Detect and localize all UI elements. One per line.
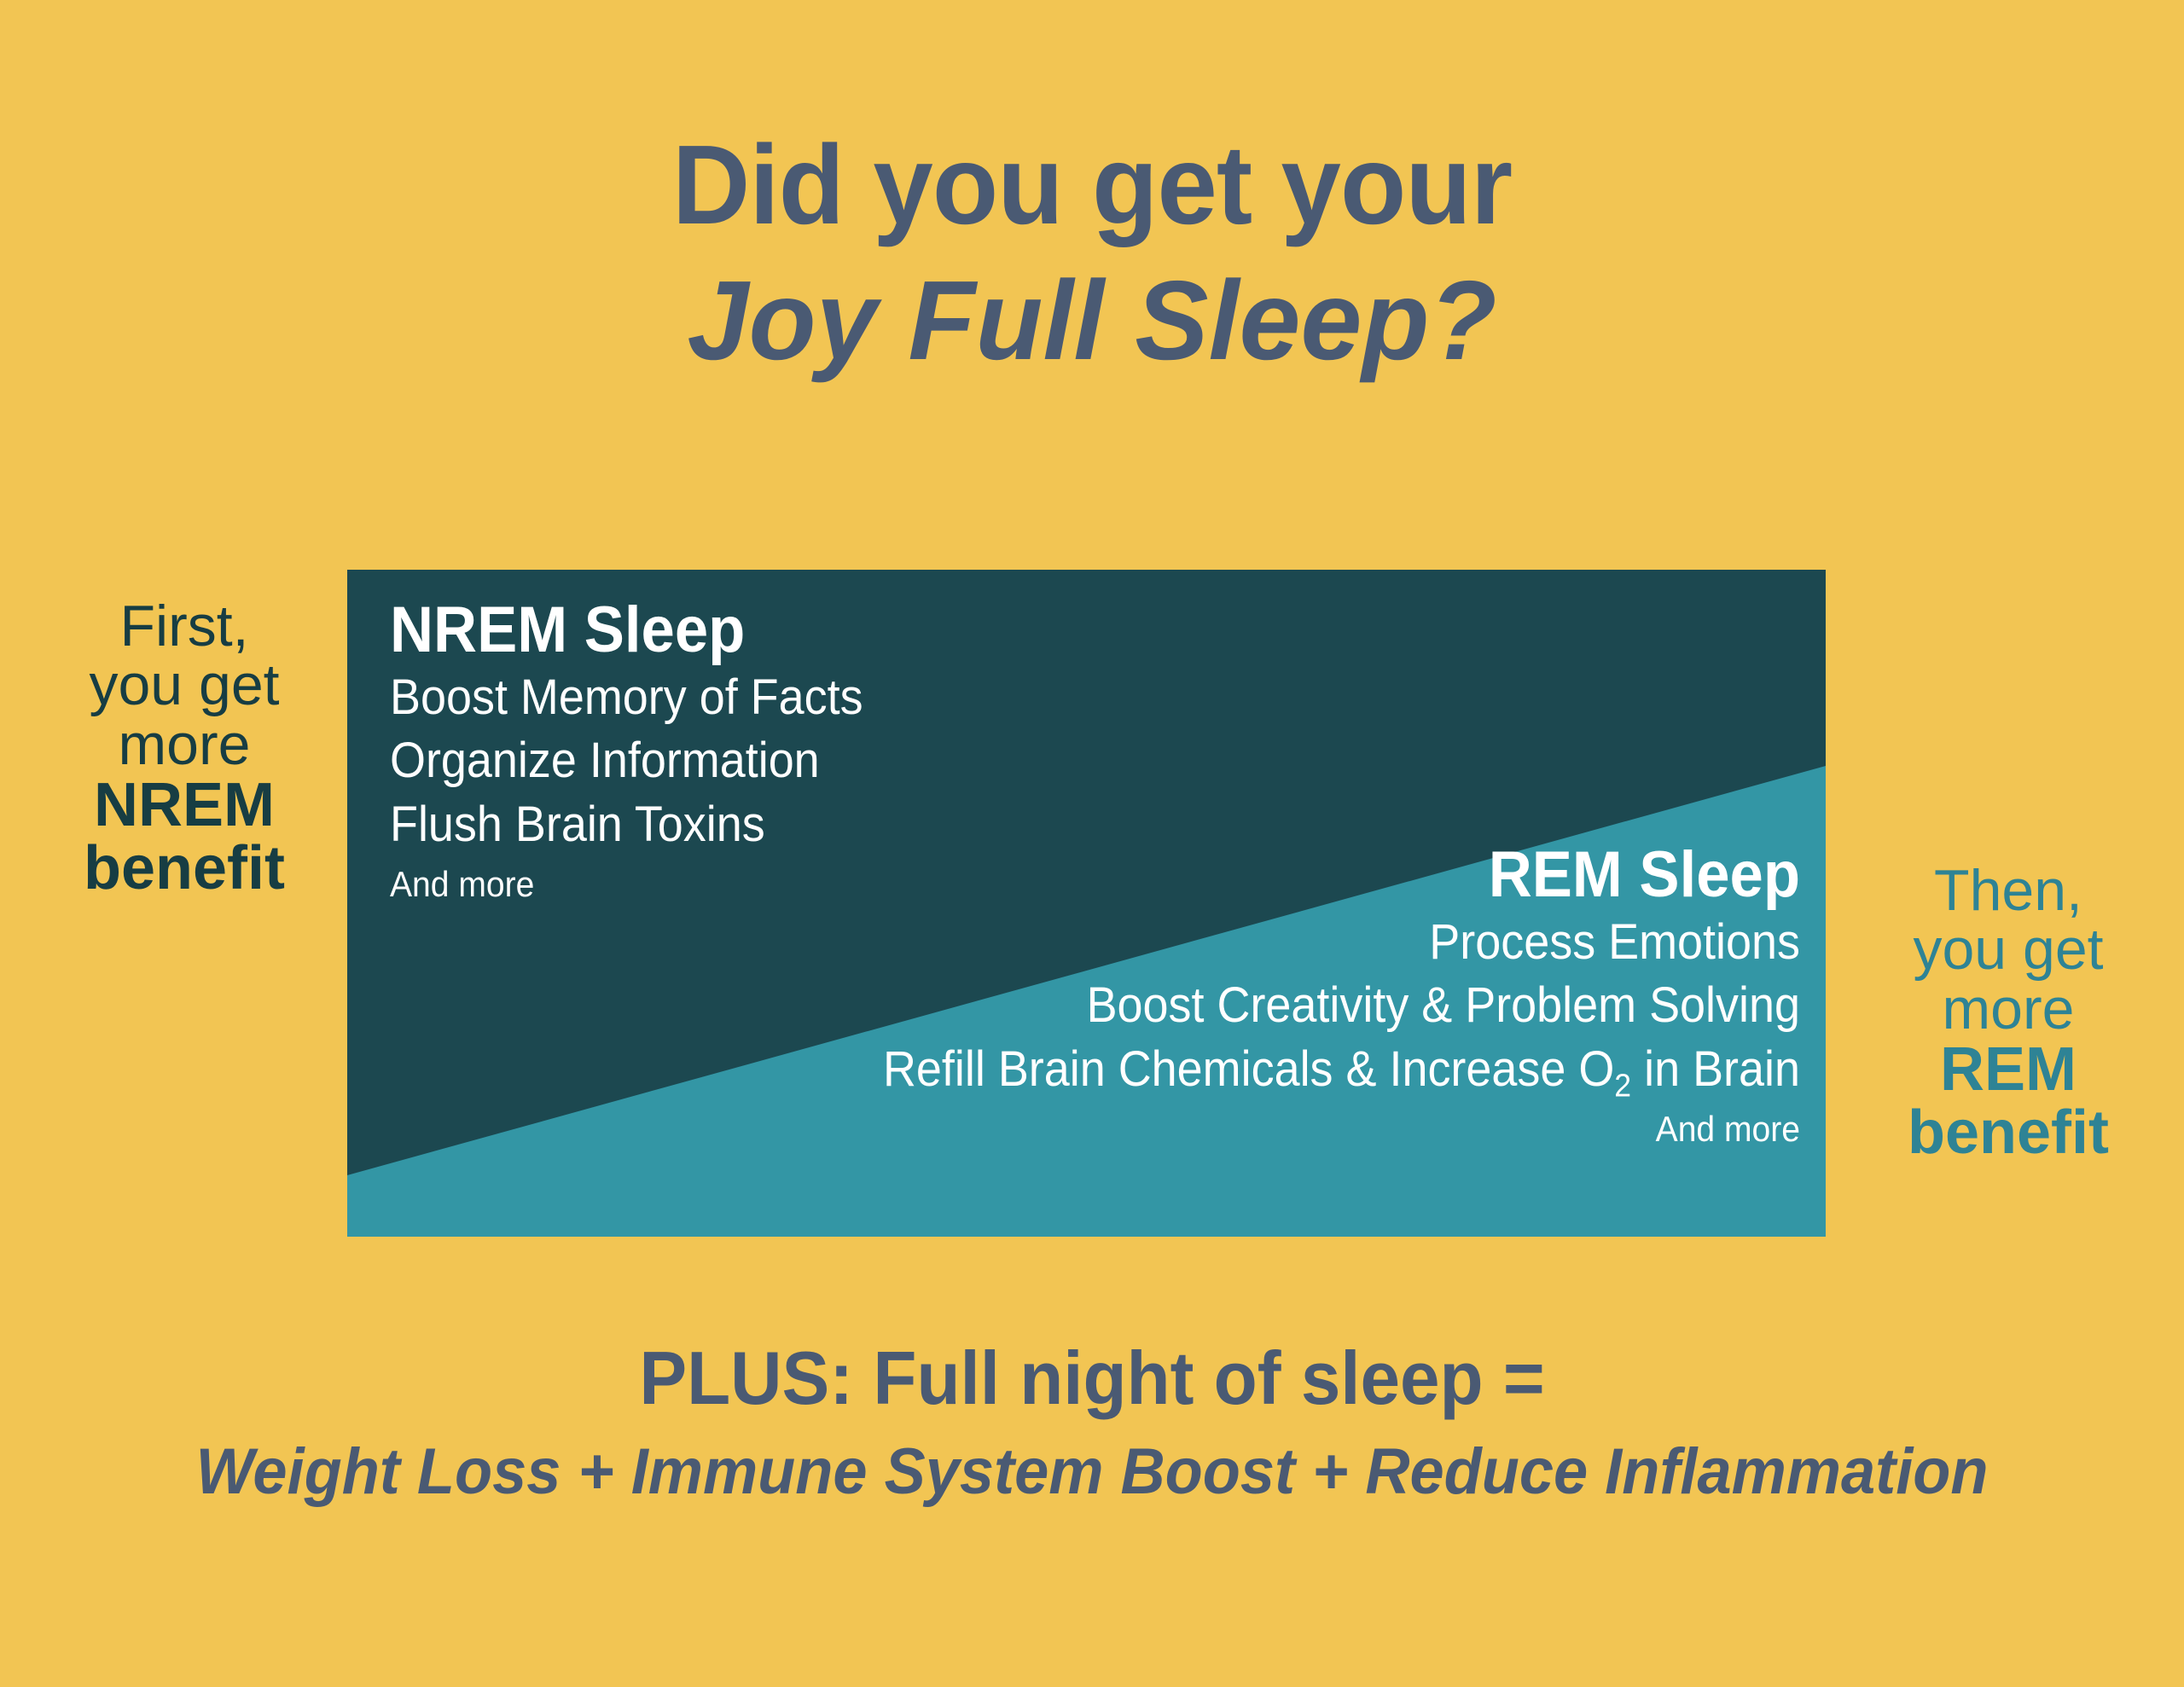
right-callout-line-4: REM: [1850, 1039, 2167, 1101]
left-callout-line-4: NREM: [34, 774, 334, 837]
headline-block: Did you get your Joy Full Sleep?: [0, 128, 2184, 381]
rem-item-3-subscript: 2: [1614, 1067, 1631, 1104]
headline-line-1: Did you get your: [44, 128, 2140, 243]
rem-title: REM Sleep: [650, 838, 1801, 911]
rem-item-3: Refill Brain Chemicals & Increase O2 in …: [650, 1038, 1801, 1101]
footer-line-2: Weight Loss + Immune System Boost + Redu…: [55, 1433, 2129, 1510]
nrem-item-2: Organize Information: [390, 729, 1183, 792]
footer-line-1: PLUS: Full night of sleep =: [55, 1335, 2129, 1421]
right-callout-line-5: benefit: [1850, 1102, 2167, 1164]
left-callout-line-3: more: [34, 716, 334, 774]
headline-line-2: Joy Full Sleep?: [22, 260, 2163, 382]
sleep-stage-diagram: NREM Sleep Boost Memory of Facts Organiz…: [347, 570, 1826, 1237]
right-callout-line-3: more: [1850, 980, 2167, 1039]
footer-block: PLUS: Full night of sleep = Weight Loss …: [0, 1335, 2184, 1510]
rem-item-3-pre: Refill Brain Chemicals & Increase O: [883, 1041, 1614, 1097]
rem-and-more: And more: [650, 1106, 1801, 1153]
right-callout-rem: Then, you get more REM benefit: [1850, 861, 2167, 1164]
nrem-item-1: Boost Memory of Facts: [390, 666, 1183, 729]
left-callout-line-5: benefit: [34, 838, 334, 900]
right-callout-line-1: Then,: [1850, 861, 2167, 920]
left-callout-line-2: you get: [34, 656, 334, 715]
right-callout-line-2: you get: [1850, 920, 2167, 979]
nrem-title: NREM Sleep: [390, 594, 1183, 666]
rem-text-block: REM Sleep Process Emotions Boost Creativ…: [563, 838, 1800, 1152]
rem-item-1: Process Emotions: [650, 911, 1801, 974]
rem-item-2: Boost Creativity & Problem Solving: [650, 974, 1801, 1037]
left-callout-nrem: First, you get more NREM benefit: [34, 597, 334, 900]
rem-item-3-post: in Brain: [1631, 1041, 1800, 1097]
left-callout-line-1: First,: [34, 597, 334, 656]
infographic-poster: Did you get your Joy Full Sleep? First, …: [0, 0, 2184, 1687]
